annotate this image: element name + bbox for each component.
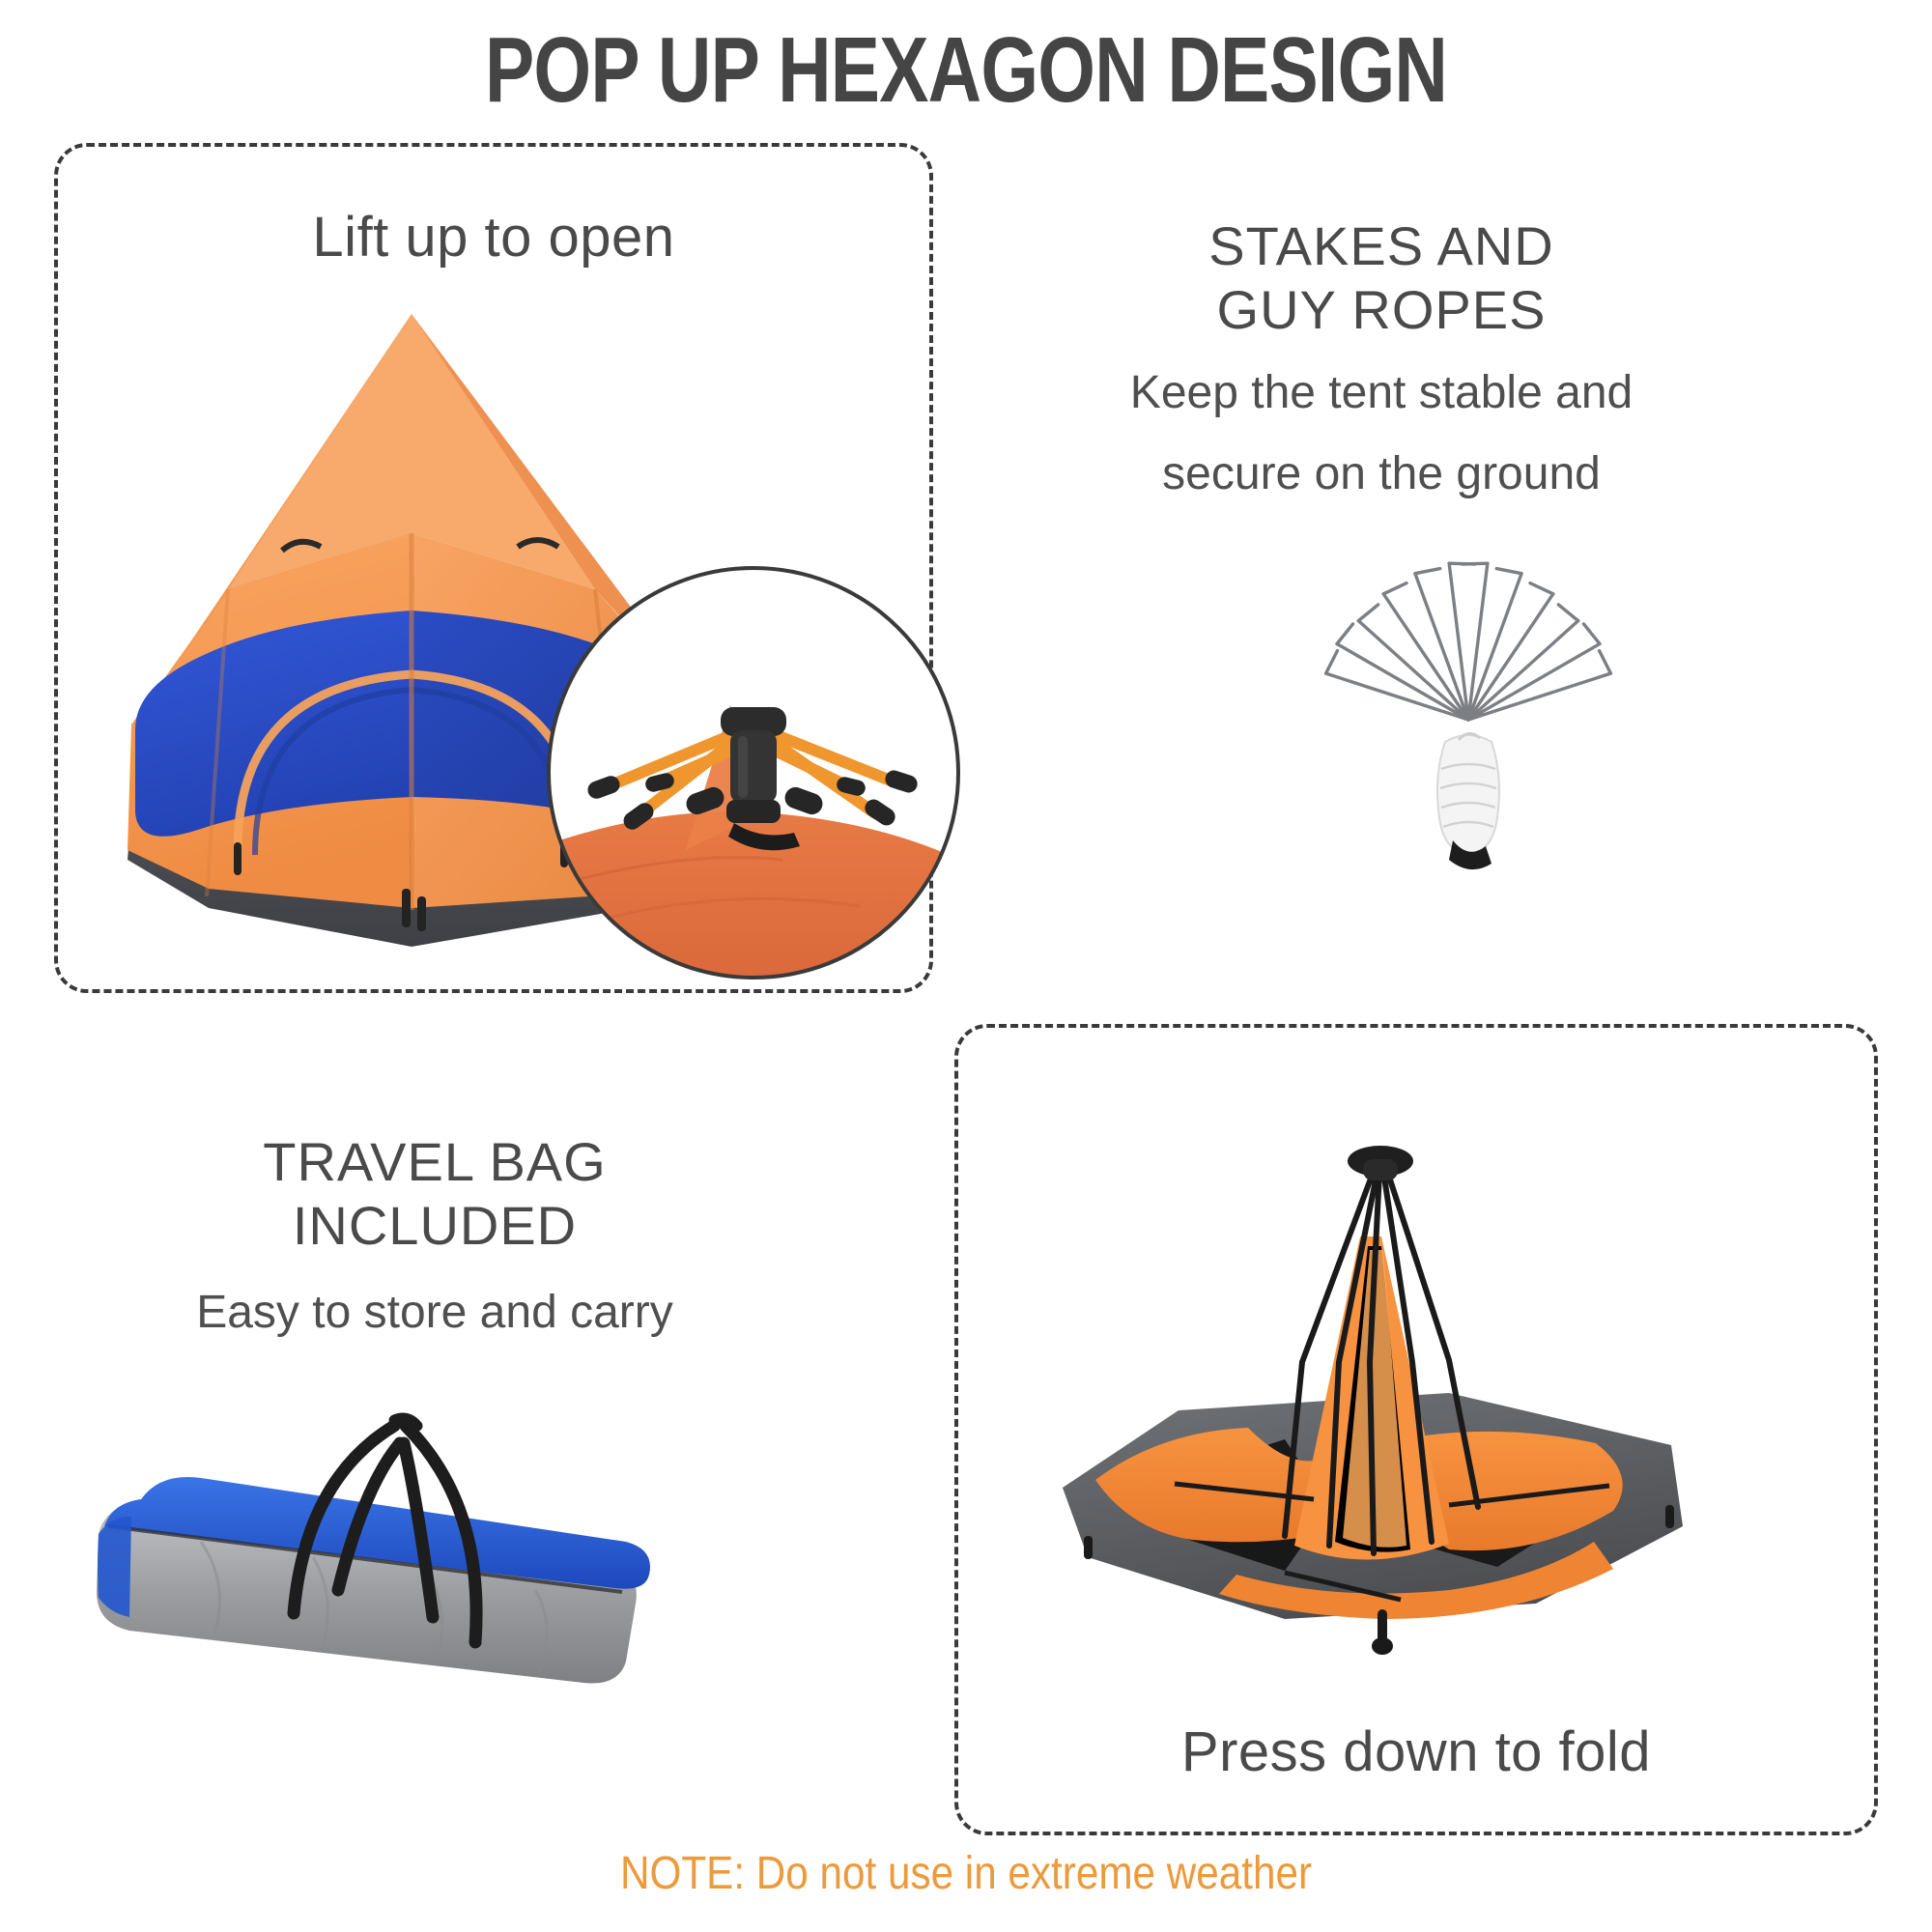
collapsed-tent-illustration	[995, 1121, 1710, 1662]
guy-rope-coil	[1437, 733, 1499, 869]
bag-heading-line-2: INCLUDED	[126, 1194, 744, 1258]
bag-subtext: Easy to store and carry	[126, 1286, 744, 1339]
travel-bag-text-block: TRAVEL BAG INCLUDED Easy to store and ca…	[126, 1130, 744, 1339]
page-title: POP UP HEXAGON DESIGN	[193, 17, 1739, 124]
caption-press-down-to-fold: Press down to fold	[954, 1719, 1878, 1784]
caption-lift-up-to-open: Lift up to open	[54, 205, 933, 270]
infographic-page: POP UP HEXAGON DESIGN Lift up to open	[0, 0, 1932, 1932]
bag-end-cap	[98, 1517, 131, 1617]
apex-hub	[1348, 1146, 1413, 1180]
stakes-heading-line-1: STAKES AND	[1053, 214, 1710, 278]
travel-bag-illustration	[85, 1372, 665, 1758]
stakes-subtext-line-2: secure on the ground	[1053, 445, 1710, 503]
hub-center	[721, 707, 786, 823]
footer-note: NOTE: Do not use in extreme weather	[116, 1847, 1816, 1900]
hub-inset-content	[541, 560, 966, 985]
stakes-and-rope-illustration	[1275, 551, 1662, 879]
stakes-text-block: STAKES AND GUY ROPES Keep the tent stabl…	[1053, 214, 1710, 503]
bag-heading-line-1: TRAVEL BAG	[126, 1130, 744, 1194]
stakes-subtext-line-1: Keep the tent stable and	[1053, 364, 1710, 422]
hub-mechanism-inset	[541, 560, 966, 985]
stakes-heading-line-2: GUY ROPES	[1053, 278, 1710, 342]
tent-stakes-fan	[1326, 560, 1611, 720]
